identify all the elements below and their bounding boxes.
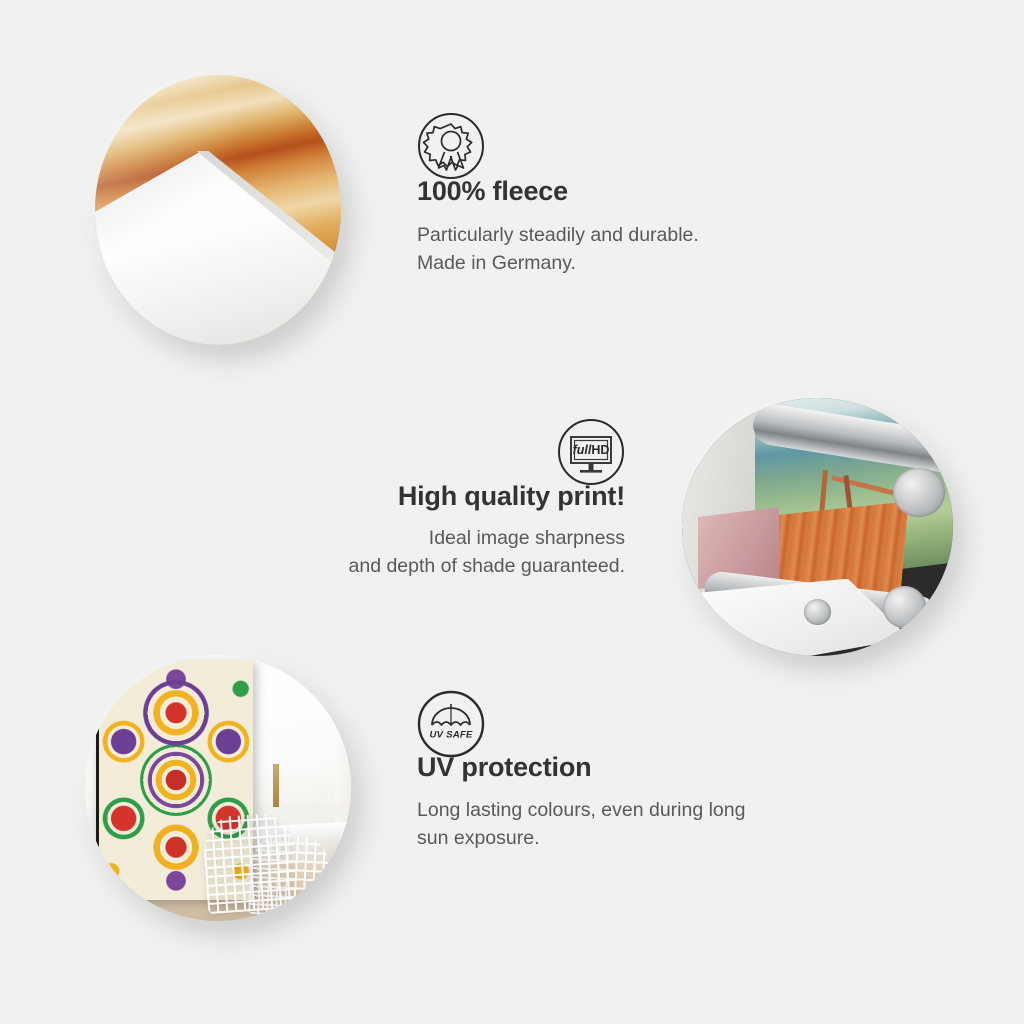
roller-bolt: [804, 599, 831, 625]
feature-desc-line: Long lasting colours, even during long: [417, 797, 867, 825]
photo-paisley-mural-room: [85, 655, 351, 921]
wire-chair: [201, 812, 298, 914]
feature-desc-fleece: Particularly steadily and durable. Made …: [417, 222, 847, 277]
feature-desc-uv: Long lasting colours, even during long s…: [417, 797, 867, 852]
infographic-canvas: 100% fleece Particularly steadily and du…: [0, 0, 1024, 1024]
feature-desc-line: Ideal image sharpness: [195, 525, 625, 553]
photo-printing-machine: [682, 398, 953, 656]
feature-desc-line: and depth of shade guaranteed.: [195, 553, 625, 581]
feature-desc-print: Ideal image sharpness and depth of shade…: [195, 525, 625, 580]
candlestick: [273, 764, 279, 807]
uv-safe-umbrella-icon: UV SAFE: [417, 690, 485, 763]
feature-desc-line: Particularly steadily and durable.: [417, 222, 847, 250]
svg-text:fullHD: fullHD: [573, 443, 610, 457]
roller-end-cap: [883, 586, 926, 627]
photo-peeled-fleece-wallpaper: [95, 75, 341, 345]
room-window: [245, 671, 335, 825]
fullhd-monitor-icon: fullHD: [557, 418, 625, 491]
award-rosette-icon: [417, 112, 485, 185]
feature-block-fleece: 100% fleece Particularly steadily and du…: [417, 112, 847, 278]
svg-text:UV SAFE: UV SAFE: [430, 730, 473, 741]
feature-desc-line: Made in Germany.: [417, 250, 847, 278]
feature-desc-line: sun exposure.: [417, 825, 867, 853]
feature-block-uv: UV SAFE UV protection Long lasting colou…: [417, 690, 867, 853]
roller-end-cap: [893, 468, 944, 517]
feature-block-print: fullHD High quality print! Ideal image s…: [195, 418, 625, 581]
